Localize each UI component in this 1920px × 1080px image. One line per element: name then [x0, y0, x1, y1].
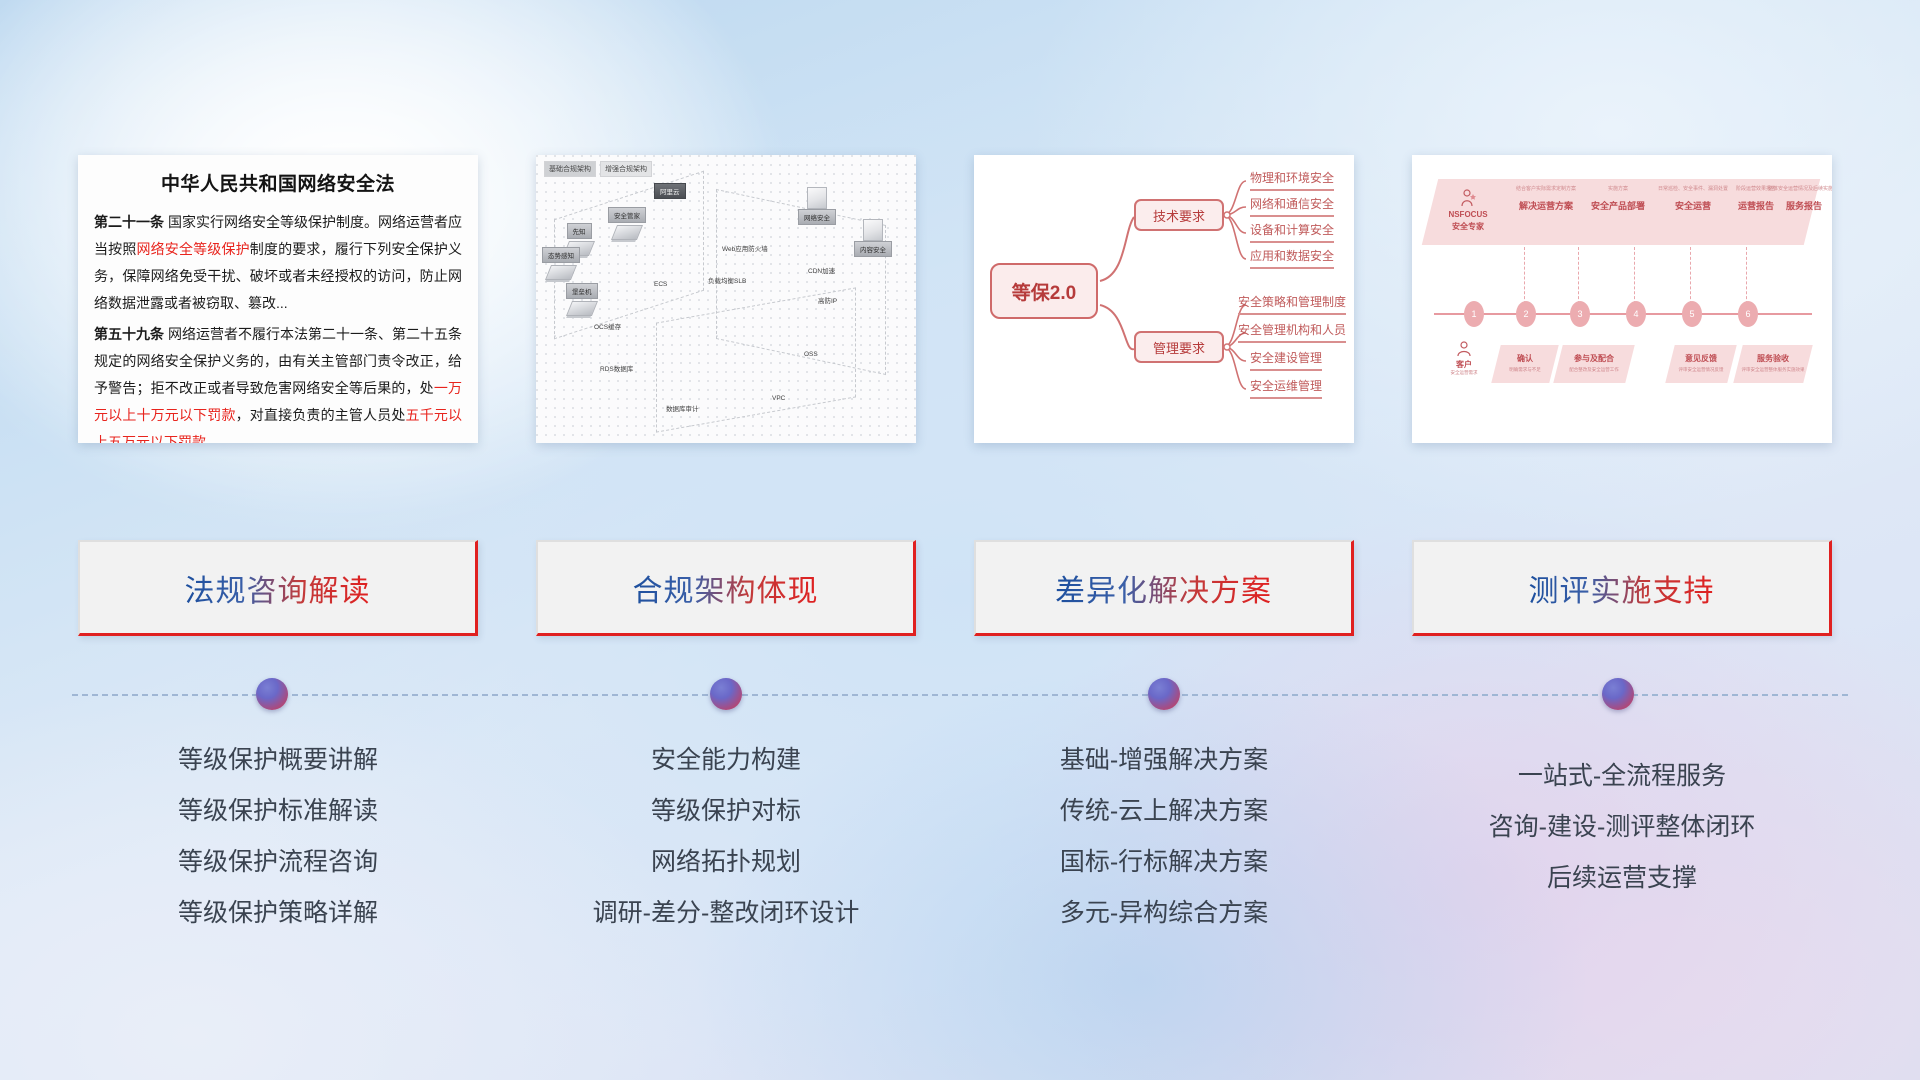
law-paragraph-2: 第五十九条 网络运营者不履行本法第二十一条、第二十五条规定的网络安全保护义务的，…: [94, 321, 462, 443]
node-waf-label: Web应用防火墙: [722, 243, 768, 253]
nsfocus-oval-3: 3: [1570, 301, 1590, 327]
node-bastion-host: 堡垒机: [566, 283, 598, 316]
mindmap-canvas: 等保2.0 技术要求 管理要求 物理和环境安全 网络和通信安全 设备和计算安: [974, 155, 1354, 443]
nsfocus-oval-2: 2: [1516, 301, 1536, 327]
nsfocus-step-5-main: 服务报告: [1768, 199, 1832, 212]
node-situation-awareness-label: 态势感知: [542, 247, 580, 263]
list-item: 等级保护标准解读: [78, 786, 478, 837]
box-icon: [863, 219, 883, 241]
law-text-2c: ，对直接负责的主管人员处: [236, 407, 406, 423]
law-document: 中华人民共和国网络安全法 第二十一条 国家实行网络安全等级保护制度。网络运营者应…: [78, 155, 478, 443]
nsfocus-tag-4: 服务验收 评审安全运营整体服务实施效果: [1738, 353, 1808, 373]
nsfocus-tag-3-sub: 评审安全运营情况反馈: [1670, 367, 1732, 373]
nsfocus-oval-6: 6: [1738, 301, 1758, 327]
law-article-number-1: 第二十一条: [94, 214, 164, 230]
node-network-security-label: 网络安全: [798, 209, 836, 225]
nsfocus-oval-4: 4: [1626, 301, 1646, 327]
mindmap-leaf-construction-mgmt: 安全建设管理: [1250, 349, 1322, 371]
nsfocus-dash-5: [1746, 247, 1747, 309]
node-slb-label: 负载均衡SLB: [708, 275, 746, 285]
pill-button-regulation-consulting[interactable]: 法规咨询解读: [78, 540, 478, 636]
tab-enhanced-architecture[interactable]: 增强合规架构: [600, 161, 652, 177]
nsfocus-expert-block: NSFOCUS 安全专家: [1438, 189, 1498, 233]
node-network-security: 网络安全: [798, 185, 836, 225]
list-item: 多元-异构综合方案: [974, 888, 1354, 939]
list-item: 国标-行标解决方案: [974, 837, 1354, 888]
pill-button-differentiated-solution[interactable]: 差异化解决方案: [974, 540, 1354, 636]
timeline-dot-4[interactable]: [1602, 678, 1634, 710]
card-nsfocus-flow: NSFOCUS 安全专家 结合客户实际需求定制方案 解决运营方案 实施方案 安全…: [1412, 155, 1832, 443]
nsfocus-tag-2-title: 参与及配合: [1558, 353, 1630, 364]
pill-label-4: 测评实施支持: [1529, 566, 1715, 610]
pill-button-compliance-architecture[interactable]: 合规架构体现: [536, 540, 916, 636]
node-situation-awareness: 态势感知: [542, 247, 580, 280]
nsfocus-step-1: 结合客户实际需求定制方案 解决运营方案: [1508, 185, 1584, 212]
node-rds-label: RDS数据库: [600, 363, 633, 373]
mindmap-leaf-device-compute: 设备和计算安全: [1250, 221, 1334, 243]
law-article-number-2: 第五十九条: [94, 326, 164, 342]
list-item: 等级保护对标: [536, 786, 916, 837]
law-paragraph-1: 第二十一条 国家实行网络安全等级保护制度。网络运营者应当按照网络安全等级保护制度…: [94, 209, 462, 317]
node-db-audit-label: 数据库审计: [666, 403, 699, 413]
pill-label-1: 法规咨询解读: [185, 566, 371, 610]
node-oss-label: OSS: [804, 351, 818, 358]
nsfocus-step-1-sub: 结合客户实际需求定制方案: [1508, 185, 1584, 192]
list-item: 等级保护概要讲解: [78, 735, 478, 786]
card-mindmap: 等保2.0 技术要求 管理要求 物理和环境安全 网络和通信安全 设备和计算安: [974, 155, 1354, 443]
list-column-2: 安全能力构建 等级保护对标 网络拓扑规划 调研-差分-整改闭环设计: [536, 735, 916, 939]
box-icon: [807, 187, 827, 209]
nsfocus-tag-3: 意见反馈 评审安全运营情况反馈: [1670, 353, 1732, 373]
timeline-dot-3[interactable]: [1148, 678, 1180, 710]
nsfocus-dash-2: [1578, 247, 1579, 309]
pill-button-assessment-support[interactable]: 测评实施支持: [1412, 540, 1832, 636]
list-item: 咨询-建设-测评整体闭环: [1412, 802, 1832, 853]
list-item: 等级保护流程咨询: [78, 837, 478, 888]
card-law-text: 中华人民共和国网络安全法 第二十一条 国家实行网络安全等级保护制度。网络运营者应…: [78, 155, 478, 443]
list-column-4: 一站式-全流程服务 咨询-建设-测评整体闭环 后续运营支撑: [1412, 751, 1832, 904]
nsfocus-tag-4-sub: 评审安全运营整体服务实施效果: [1738, 367, 1808, 373]
timeline-dashed-line: [72, 694, 1848, 696]
cube-icon: [611, 225, 643, 240]
node-content-security: 内容安全: [854, 217, 892, 257]
timeline-dot-1[interactable]: [256, 678, 288, 710]
node-content-security-label: 内容安全: [854, 241, 892, 257]
nsfocus-step-5-sub: 整体安全运营情况及后续实施效果: [1768, 185, 1832, 192]
node-security-steward-label: 安全管家: [608, 207, 646, 223]
mindmap-leaf-org-personnel: 安全管理机构和人员: [1238, 321, 1346, 343]
list-item: 等级保护策略详解: [78, 888, 478, 939]
architecture-canvas: 基础合规架构 增强合规架构 阿里云 安全管家 先知 态势感知: [536, 155, 916, 443]
nsfocus-step-2-sub: 实施方案: [1580, 185, 1656, 192]
mindmap-branch-management: 管理要求: [1134, 331, 1224, 363]
architecture-tabs: 基础合规架构 增强合规架构: [544, 161, 652, 177]
nsfocus-step-5: 整体安全运营情况及后续实施效果 服务报告: [1768, 185, 1832, 212]
nsfocus-oval-5: 5: [1682, 301, 1702, 327]
node-ecs-label: ECS: [654, 281, 667, 288]
node-aliyun-label: 阿里云: [654, 183, 686, 199]
pill-label-2: 合规架构体现: [633, 566, 819, 610]
cube-icon: [545, 265, 577, 280]
nsfocus-tag-2-sub: 配合整改及安全运营工作: [1558, 367, 1630, 373]
nsfocus-customer-label: 客户: [1434, 359, 1494, 370]
nsfocus-tag-3-title: 意见反馈: [1670, 353, 1732, 364]
list-item: 后续运营支撑: [1412, 853, 1832, 904]
list-column-1: 等级保护概要讲解 等级保护标准解读 等级保护流程咨询 等级保护策略详解: [78, 735, 478, 939]
pill-row: 法规咨询解读 合规架构体现 差异化解决方案 测评实施支持: [0, 540, 1920, 640]
mindmap-leaf-network-comm: 网络和通信安全: [1250, 195, 1334, 217]
node-aliyun: 阿里云: [654, 183, 686, 199]
nsfocus-step-2-main: 安全产品部署: [1580, 199, 1656, 212]
node-vpc-label: VPC: [772, 395, 785, 402]
mindmap-branch-technical: 技术要求: [1134, 199, 1224, 231]
tab-basic-architecture[interactable]: 基础合规架构: [544, 161, 596, 177]
list-item: 安全能力构建: [536, 735, 916, 786]
nsfocus-tag-2: 参与及配合 配合整改及安全运营工作: [1558, 353, 1630, 373]
nsfocus-brand-sub: 安全专家: [1438, 221, 1498, 233]
nsfocus-oval-1: 1: [1464, 301, 1484, 327]
law-title: 中华人民共和国网络安全法: [94, 169, 462, 196]
list-item: 基础-增强解决方案: [974, 735, 1354, 786]
timeline-dot-2[interactable]: [710, 678, 742, 710]
mindmap-leaf-policy-system: 安全策略和管理制度: [1238, 293, 1346, 315]
node-ocs-cache-label: OCS缓存: [594, 321, 621, 331]
mindmap-leaf-app-data: 应用和数据安全: [1250, 247, 1334, 269]
nsfocus-customer-block: 客户 安全运营需求: [1434, 341, 1494, 376]
nsfocus-tag-1-title: 确认: [1496, 353, 1554, 364]
node-bastion-host-label: 堡垒机: [566, 283, 598, 299]
mindmap-leaf-ops-mgmt: 安全运维管理: [1250, 377, 1322, 399]
nsfocus-dash-3: [1634, 247, 1635, 309]
list-item: 网络拓扑规划: [536, 837, 916, 888]
node-security-steward: 安全管家: [608, 207, 646, 240]
card-architecture-diagram: 基础合规架构 增强合规架构 阿里云 安全管家 先知 态势感知: [536, 155, 916, 443]
nsfocus-dash-4: [1690, 247, 1691, 309]
nsfocus-step-1-main: 解决运营方案: [1508, 199, 1584, 212]
nsfocus-tag-4-title: 服务验收: [1738, 353, 1808, 364]
nsfocus-customer-sub: 安全运营需求: [1434, 370, 1494, 376]
nsfocus-dash-1: [1524, 247, 1525, 309]
person-star-icon: [1459, 189, 1477, 207]
nsfocus-tag-1: 确认 明确需求与不足: [1496, 353, 1554, 373]
law-text-1b-highlight: 网络安全等级保护: [136, 241, 249, 257]
nsfocus-canvas: NSFOCUS 安全专家 结合客户实际需求定制方案 解决运营方案 实施方案 安全…: [1412, 155, 1832, 443]
customer-icon: [1455, 341, 1473, 357]
lists-row: 等级保护概要讲解 等级保护标准解读 等级保护流程咨询 等级保护策略详解 安全能力…: [0, 735, 1920, 995]
pill-label-3: 差异化解决方案: [1055, 566, 1272, 610]
cards-row: 中华人民共和国网络安全法 第二十一条 国家实行网络安全等级保护制度。网络运营者应…: [0, 0, 1920, 460]
node-anti-ddos-label: 高防IP: [818, 295, 837, 305]
list-item: 调研-差分-整改闭环设计: [536, 888, 916, 939]
list-item: 一站式-全流程服务: [1412, 751, 1832, 802]
list-item: 传统-云上解决方案: [974, 786, 1354, 837]
list-column-3: 基础-增强解决方案 传统-云上解决方案 国标-行标解决方案 多元-异构综合方案: [974, 735, 1354, 939]
node-xianzhi-label: 先知: [567, 223, 592, 239]
cube-icon: [566, 301, 598, 316]
node-cdn-label: CDN加速: [808, 265, 835, 275]
nsfocus-brand: NSFOCUS: [1438, 209, 1498, 221]
timeline: [0, 664, 1920, 724]
mindmap-leaf-physical-env: 物理和环境安全: [1250, 169, 1334, 191]
nsfocus-step-2: 实施方案 安全产品部署: [1580, 185, 1656, 212]
nsfocus-tag-1-sub: 明确需求与不足: [1496, 367, 1554, 373]
